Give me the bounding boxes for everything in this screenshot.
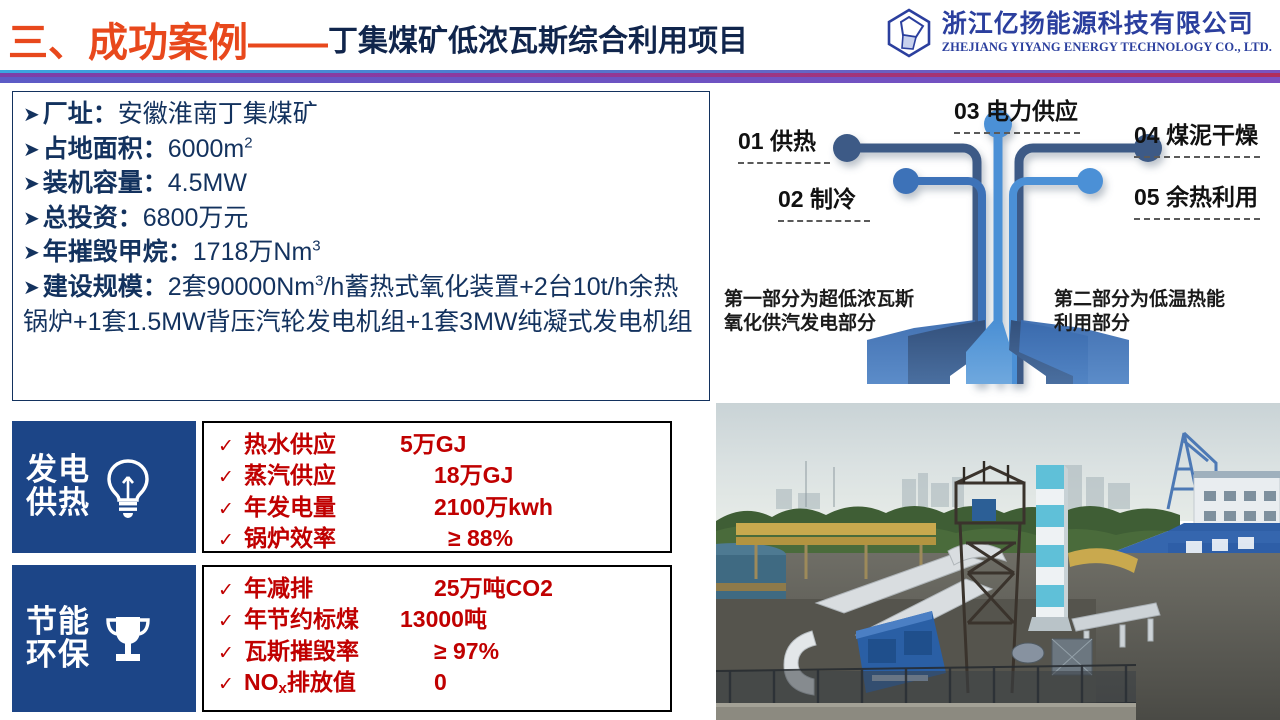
trophy-icon xyxy=(96,607,160,671)
hexagon-logo-icon xyxy=(886,8,932,58)
metric-value: ≥ 88% xyxy=(384,526,513,551)
list-item: ✓ 热水供应 5万GJ xyxy=(218,432,670,457)
check-icon: ✓ xyxy=(218,611,244,632)
metric-name: 蒸汽供应 xyxy=(244,463,384,488)
list-item: ✓ 年减排 25万吨CO2 xyxy=(218,576,670,601)
info-value: 6800万元 xyxy=(143,204,249,234)
node-text-05: 余热利用 xyxy=(1166,184,1258,210)
desc-left-line-2: 氧化供汽发电部分 xyxy=(724,312,914,336)
info-value-sup: 3 xyxy=(312,238,320,255)
header-divider xyxy=(0,70,1280,83)
node-number-03: 03 xyxy=(954,98,980,124)
category-power-list: ✓ 热水供应 5万GJ ✓ 蒸汽供应 18万GJ ✓ 年发电量 2100万kwh… xyxy=(202,421,672,553)
badge-line-2: 供热 xyxy=(26,487,90,520)
node-text-03: 电力供应 xyxy=(986,98,1078,124)
category-badge-eco: 节能 环保 xyxy=(12,565,196,712)
node-underline-02 xyxy=(778,215,870,222)
bullet-arrow-icon: ➤ xyxy=(23,276,40,300)
metric-value: 2100万kwh xyxy=(384,495,553,520)
node-01-dot xyxy=(833,134,861,162)
metric-value: 25万吨CO2 xyxy=(384,576,553,601)
info-label: 厂址： xyxy=(43,100,118,130)
desc-right-line-1: 第二部分为低温热能 xyxy=(1054,288,1225,312)
bullet-arrow-icon: ➤ xyxy=(23,138,40,162)
info-label: 建设规模： xyxy=(43,273,168,303)
bullet-arrow-icon: ➤ xyxy=(23,103,40,127)
metric-name: 年节约标煤 xyxy=(244,607,384,632)
list-item: ✓ 年节约标煤 13000吨 xyxy=(218,607,670,632)
info-scale-b: /h蓄热式氧化装置+2台10t/h余热 xyxy=(323,273,678,301)
info-value: 6000m2 xyxy=(168,135,253,165)
info-row-investment: ➤ 总投资： 6800万元 xyxy=(23,204,699,234)
metric-value: 0 xyxy=(384,670,447,695)
category-badge-power: 发电 供热 xyxy=(12,421,196,553)
info-row-area: ➤ 占地面积： 6000m2 xyxy=(23,135,699,165)
project-info-box: ➤ 厂址： 安徽淮南丁集煤矿 ➤ 占地面积： 6000m2 ➤ 装机容量： 4.… xyxy=(12,91,710,401)
divider-stripe-bottom xyxy=(0,77,1280,83)
badge-line-2: 环保 xyxy=(26,639,90,672)
list-item: ✓ 年发电量 2100万kwh xyxy=(218,495,670,520)
node-text-04: 煤泥干燥 xyxy=(1166,122,1258,148)
node-underline-01 xyxy=(738,157,830,164)
check-icon: ✓ xyxy=(218,467,244,488)
page-title: 三、成功案例——丁集煤矿低浓瓦斯综合利用项目 xyxy=(8,10,748,68)
category-badge-label: 节能 环保 xyxy=(26,606,90,672)
info-label: 年摧毁甲烷： xyxy=(43,238,193,268)
check-icon: ✓ xyxy=(218,643,244,664)
check-icon: ✓ xyxy=(218,436,244,457)
node-text-02: 制冷 xyxy=(810,186,856,212)
info-value: 1718万Nm3 xyxy=(193,238,321,268)
category-badge-label: 发电 供热 xyxy=(26,454,90,520)
node-label-01: 01 供热 xyxy=(738,122,830,164)
badge-line-1: 节能 xyxy=(26,606,90,639)
node-number-01: 01 xyxy=(738,128,764,154)
info-value-text: 6000m xyxy=(168,135,244,163)
diagram-desc-right: 第二部分为低温热能 利用部分 xyxy=(1054,288,1225,336)
node-label-02: 02 制冷 xyxy=(778,180,870,222)
check-icon: ✓ xyxy=(218,580,244,601)
info-row-capacity: ➤ 装机容量： 4.5MW xyxy=(23,169,699,199)
node-text-01: 供热 xyxy=(770,128,816,154)
diagram-desc-left: 第一部分为超低浓瓦斯 氧化供汽发电部分 xyxy=(724,288,914,336)
metric-name: 瓦斯摧毁率 xyxy=(244,639,384,664)
check-icon: ✓ xyxy=(218,499,244,520)
info-row-methane: ➤ 年摧毁甲烷： 1718万Nm3 xyxy=(23,238,699,268)
node-underline-04 xyxy=(1134,151,1260,158)
company-logo: 浙江亿扬能源科技有限公司 ZHEJIANG YIYANG ENERGY TECH… xyxy=(886,8,1272,58)
info-value: 2套90000Nm3/h蓄热式氧化装置+2台10t/h余热 xyxy=(168,273,679,303)
metric-name: 锅炉效率 xyxy=(244,526,384,551)
page-title-main: 三、成功案例—— xyxy=(8,21,328,65)
node-number-02: 02 xyxy=(778,186,804,212)
info-value-sup: 2 xyxy=(244,134,252,151)
node-number-05: 05 xyxy=(1134,184,1160,210)
category-energy-eco: 节能 环保 ✓ 年减排 25万吨CO2 ✓ 年节约标煤 13000吨 xyxy=(12,565,672,712)
info-label: 装机容量： xyxy=(43,169,168,199)
plant-photo-illustration xyxy=(716,403,1280,720)
info-value: 安徽淮南丁集煤矿 xyxy=(118,100,318,130)
bullet-arrow-icon: ➤ xyxy=(23,172,40,196)
desc-right-line-2: 利用部分 xyxy=(1054,312,1225,336)
metric-name: 年减排 xyxy=(244,576,384,601)
energy-flow-diagram: 01 供热 02 制冷 03 电力供应 04 煤泥干燥 05 余热利用 第一部分… xyxy=(716,84,1280,402)
node-05-dot xyxy=(1077,168,1103,194)
node-label-03: 03 电力供应 xyxy=(954,92,1080,134)
check-icon: ✓ xyxy=(218,674,244,695)
node-label-04: 04 煤泥干燥 xyxy=(1134,116,1260,158)
list-item: ✓ 瓦斯摧毁率 ≥ 97% xyxy=(218,639,670,664)
desc-left-line-1: 第一部分为超低浓瓦斯 xyxy=(724,288,914,312)
list-item: ✓ 蒸汽供应 18万GJ xyxy=(218,463,670,488)
plant-photo xyxy=(716,403,1280,720)
metric-name: 年发电量 xyxy=(244,495,384,520)
list-item: ✓ NOx排放值 0 xyxy=(218,670,670,698)
badge-line-1: 发电 xyxy=(26,454,90,487)
info-scale-a: 2套90000Nm xyxy=(168,273,315,301)
node-02-dot xyxy=(893,168,919,194)
metric-name: NOx排放值 xyxy=(244,670,384,698)
company-name-en: ZHEJIANG YIYANG ENERGY TECHNOLOGY CO., L… xyxy=(942,41,1272,54)
info-value: 4.5MW xyxy=(168,169,247,199)
lightbulb-icon xyxy=(96,455,160,519)
metric-value: 18万GJ xyxy=(384,463,513,488)
category-power-heat: 发电 供热 ✓ 热水供应 5万GJ ✓ 蒸汽供应 18万GJ xyxy=(12,421,672,553)
slide-root: 三、成功案例——丁集煤矿低浓瓦斯综合利用项目 浙江亿扬能源科技有限公司 ZHEJ… xyxy=(0,0,1280,720)
info-row-site: ➤ 厂址： 安徽淮南丁集煤矿 xyxy=(23,100,699,130)
company-name-cn: 浙江亿扬能源科技有限公司 xyxy=(942,12,1254,37)
category-eco-list: ✓ 年减排 25万吨CO2 ✓ 年节约标煤 13000吨 ✓ 瓦斯摧毁率 ≥ 9… xyxy=(202,565,672,712)
slide-header: 三、成功案例——丁集煤矿低浓瓦斯综合利用项目 浙江亿扬能源科技有限公司 ZHEJ… xyxy=(0,0,1280,70)
metric-value: 13000吨 xyxy=(384,607,487,632)
metric-value: 5万GJ xyxy=(384,432,466,457)
info-label: 总投资： xyxy=(43,204,143,234)
list-item: ✓ 锅炉效率 ≥ 88% xyxy=(218,526,670,551)
info-row-scale: ➤ 建设规模： 2套90000Nm3/h蓄热式氧化装置+2台10t/h余热 xyxy=(23,273,699,303)
info-value-text: 1718万Nm xyxy=(193,238,313,266)
info-scale-line2: 锅炉+1套1.5MW背压汽轮发电机组+1套3MW纯凝式发电机组 xyxy=(23,307,699,337)
bullet-arrow-icon: ➤ xyxy=(23,241,40,265)
metric-name: 热水供应 xyxy=(244,432,384,457)
info-label: 占地面积： xyxy=(43,135,168,165)
page-title-sub: 丁集煤矿低浓瓦斯综合利用项目 xyxy=(328,25,748,58)
company-logo-text: 浙江亿扬能源科技有限公司 ZHEJIANG YIYANG ENERGY TECH… xyxy=(942,12,1272,54)
metric-name-sub: x xyxy=(279,680,287,697)
node-number-04: 04 xyxy=(1134,122,1160,148)
bullet-arrow-icon: ➤ xyxy=(23,207,40,231)
metric-value: ≥ 97% xyxy=(384,639,499,664)
node-label-05: 05 余热利用 xyxy=(1134,178,1260,220)
node-underline-03 xyxy=(954,127,1080,134)
check-icon: ✓ xyxy=(218,530,244,551)
node-underline-05 xyxy=(1134,213,1260,220)
